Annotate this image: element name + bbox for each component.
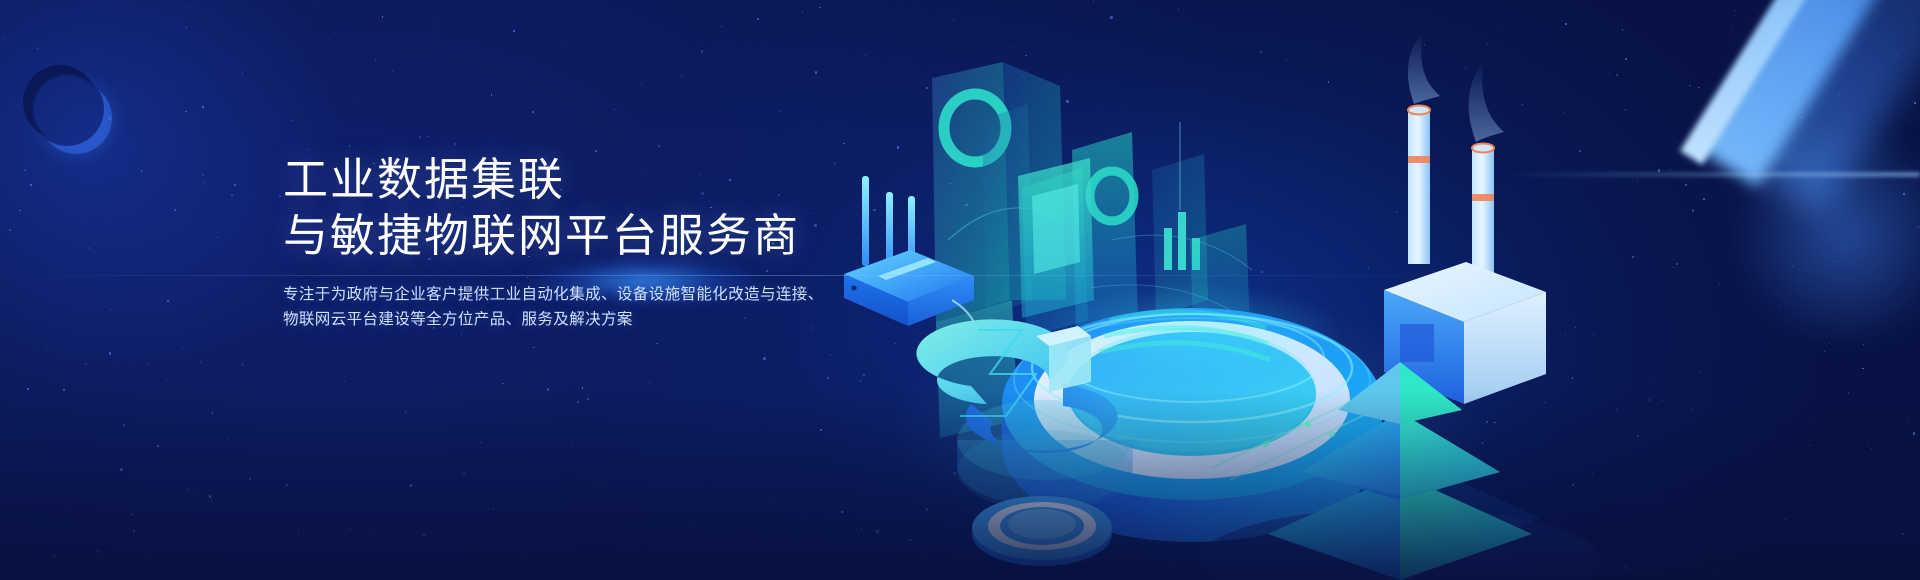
hero-banner: 工业数据集联 与敏捷物联网平台服务商 专注于为政府与企业客户提供工业自动化集成、… [0,0,1920,580]
stack-2-band [1472,194,1494,201]
smoke-plume-1 [1408,30,1440,104]
ground-glow [0,390,1920,580]
page-title-line1: 工业数据集联 [283,152,903,208]
bar-1 [1164,228,1172,270]
bar-2 [1178,212,1186,270]
smoke-plume-2 [1469,60,1504,142]
factory-window [1400,324,1434,362]
page-title-line2: 与敏捷物联网平台服务商 [283,208,903,264]
hero-copy: 工业数据集联 与敏捷物联网平台服务商 专注于为政府与企业客户提供工业自动化集成、… [283,152,903,332]
stack-1 [1408,110,1430,264]
stack-1-band [1408,156,1430,163]
factory-smokestacks [1384,30,1546,404]
stack-2 [1472,148,1494,278]
hero-subtitle-line2: 物联网云平台建设等全方位产品、服务及解决方案 [283,307,903,332]
hero-subtitle-line1: 专注于为政府与企业客户提供工业自动化集成、设备设施智能化改造与连接、 [283,282,903,307]
